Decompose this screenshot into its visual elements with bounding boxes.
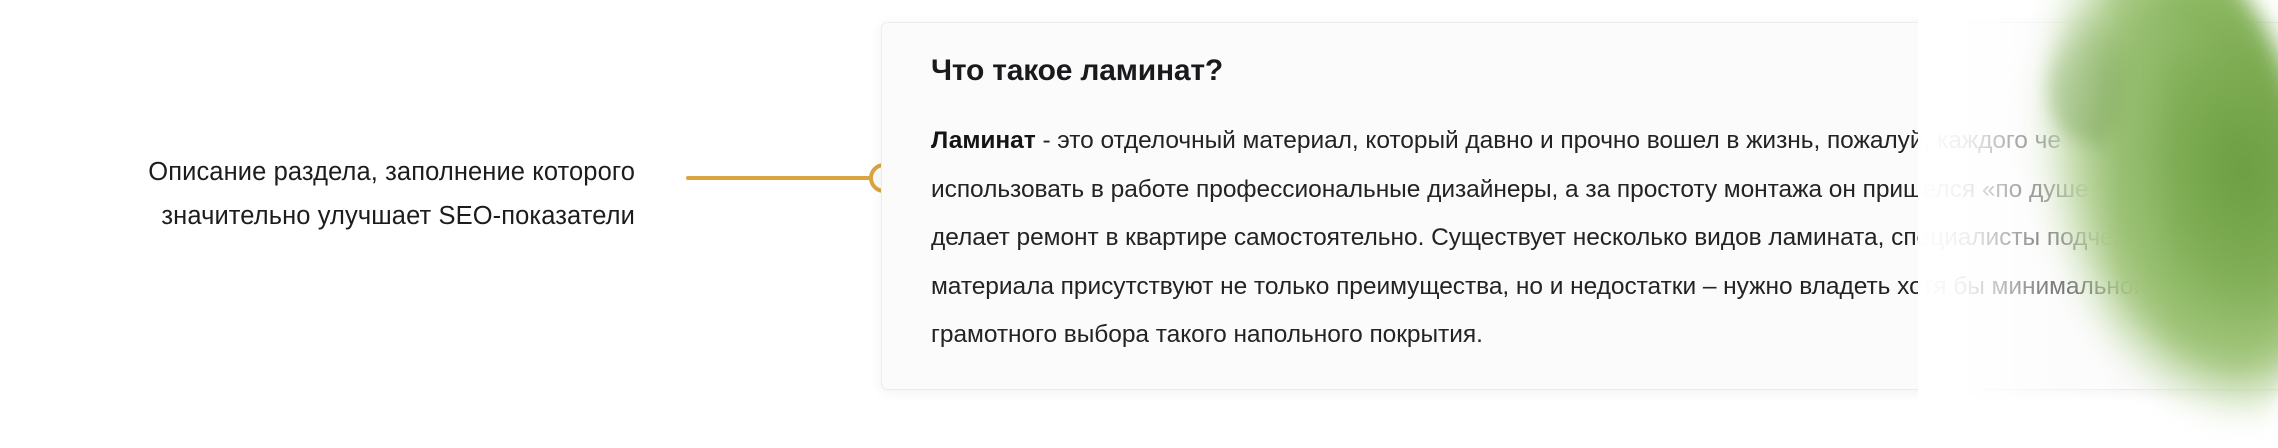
card-title: Что такое ламинат? — [931, 51, 2278, 91]
paragraph-lead-term: Ламинат — [931, 127, 1036, 154]
screenshot-stage: Описание раздела, заполнение которого зн… — [0, 0, 2278, 448]
paragraph-line-1: Ламинат - это отделочный материал, котор… — [931, 117, 2278, 166]
paragraph-line-1-rest: - это отделочный материал, который давно… — [1036, 127, 2061, 154]
annotation-caption: Описание раздела, заполнение которого зн… — [0, 150, 650, 238]
annotation-connector-line — [686, 176, 886, 180]
annotation-line-2: значительно улучшает SEO-показатели — [0, 194, 635, 238]
seo-description-card: Что такое ламинат? Ламинат - это отделоч… — [881, 22, 2278, 390]
paragraph-line-4: материала присутствуют не только преимущ… — [931, 263, 2278, 312]
card-paragraph: Ламинат - это отделочный материал, котор… — [931, 117, 2278, 360]
paragraph-line-2: использовать в работе профессиональные д… — [931, 166, 2278, 215]
paragraph-line-3: делает ремонт в квартире самостоятельно.… — [931, 214, 2278, 263]
annotation-line-1: Описание раздела, заполнение которого — [0, 150, 635, 194]
paragraph-line-5: грамотного выбора такого напольного покр… — [931, 311, 2278, 360]
card-content: Что такое ламинат? Ламинат - это отделоч… — [931, 51, 2278, 389]
